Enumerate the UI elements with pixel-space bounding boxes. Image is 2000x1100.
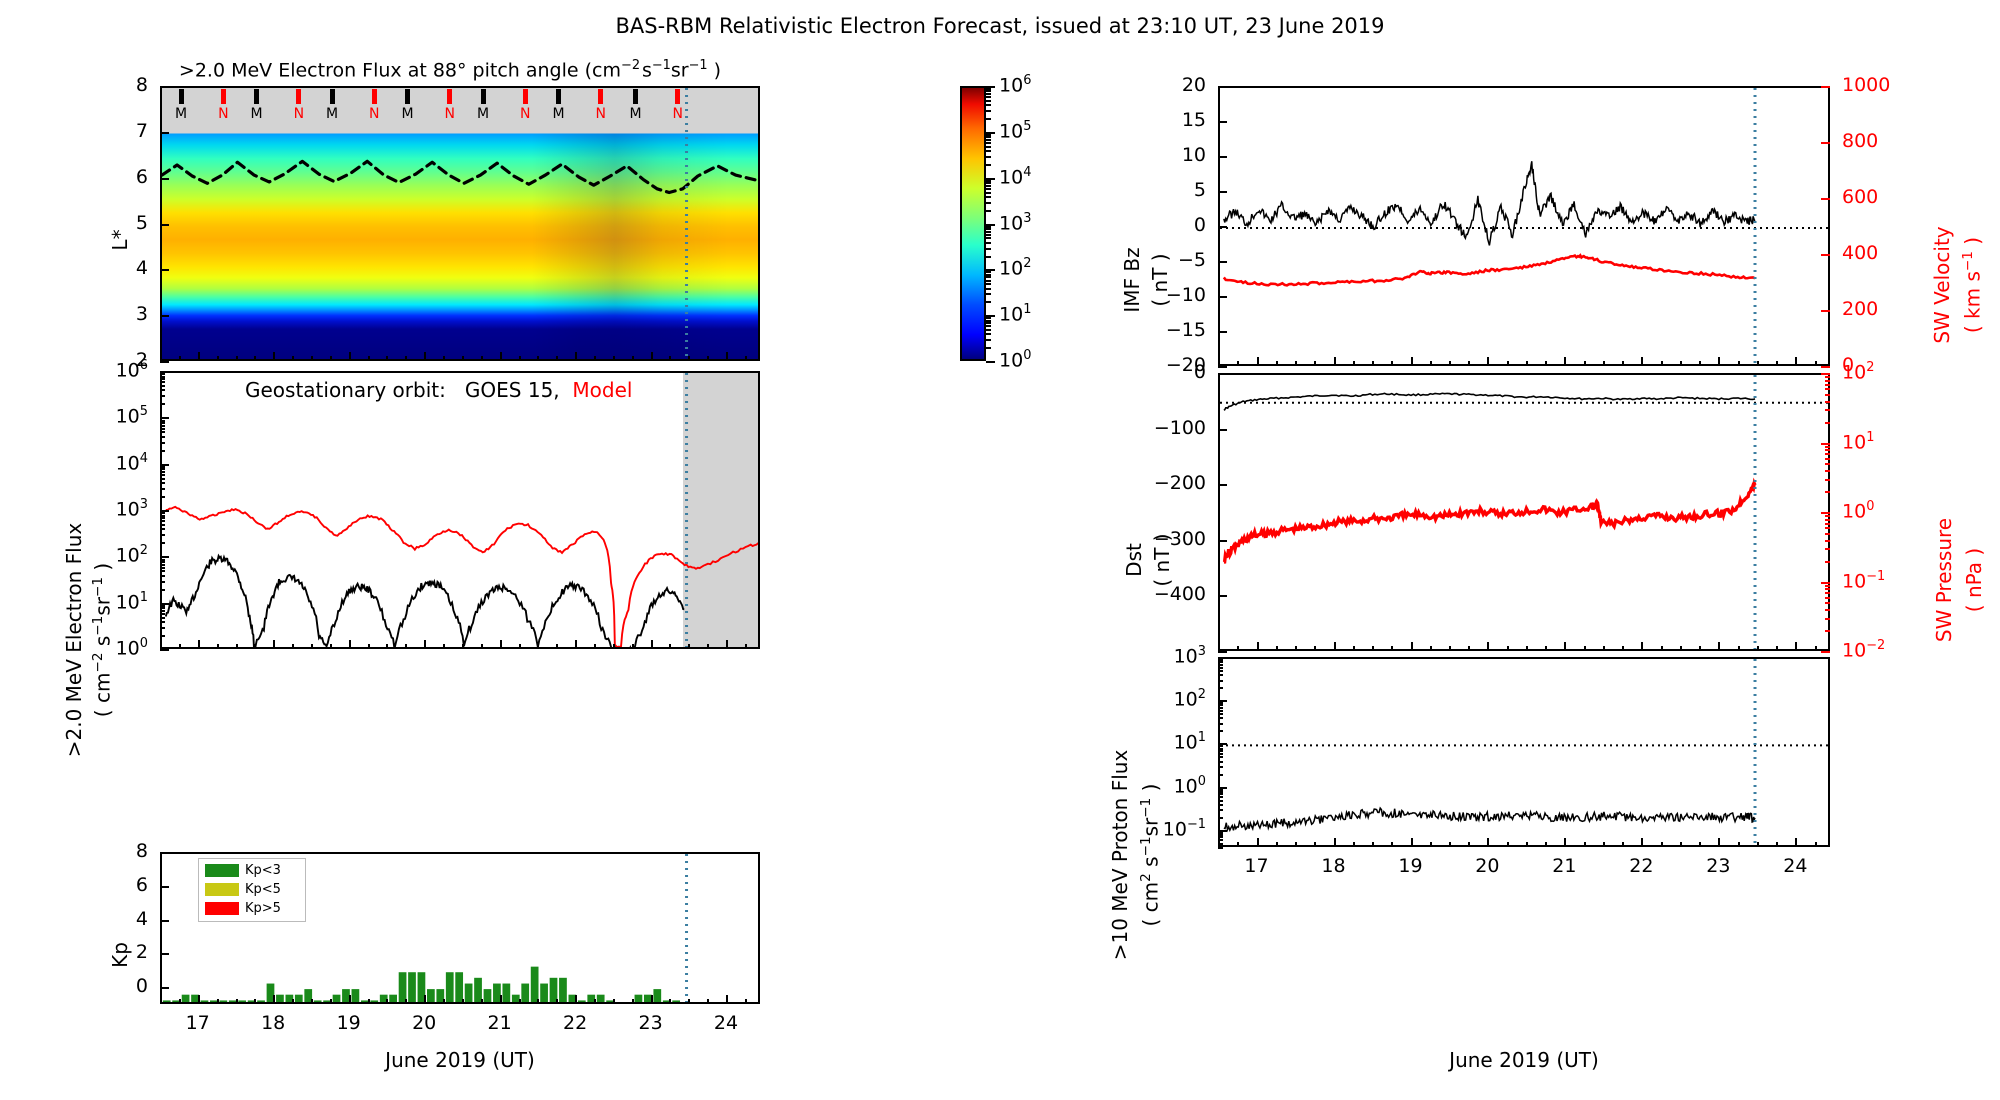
unit-sr-exponent: −1: [689, 58, 708, 73]
y-tick-minor: [160, 512, 165, 514]
kp-legend: Kp<3Kp<5Kp>5: [198, 858, 306, 922]
colorbar-tick-minor: [986, 196, 991, 198]
x-tick-minor: [1757, 842, 1759, 847]
kp-legend-label-0: Kp<3: [245, 863, 281, 878]
y-tick-label: −400: [1154, 583, 1206, 605]
satellite-tick-n: [447, 89, 452, 104]
y-tick-label: 101: [116, 590, 148, 613]
x-tick-minor: [386, 644, 388, 649]
colorbar-tick-minor: [986, 136, 991, 138]
colorbar-tick-minor: [986, 271, 991, 273]
y-tick-minor: [1218, 702, 1223, 704]
x-tick-minor: [254, 356, 256, 361]
colorbar-tick-minor: [986, 142, 991, 144]
y-tick: [1218, 86, 1227, 88]
y-tick-minor: [1218, 750, 1223, 752]
colorbar-tick-minor: [986, 280, 991, 282]
x-tick-major: [273, 995, 275, 1004]
y-tick-minor: [160, 436, 165, 438]
y-tick-minor: [1825, 376, 1830, 378]
y-tick-minor: [1218, 804, 1223, 806]
imf-curves: [1220, 88, 1830, 366]
y-tick: [160, 920, 169, 922]
y-tick-minor: [1825, 394, 1830, 396]
y-tick-label: 0: [1194, 361, 1206, 383]
y-tick-minor: [160, 515, 165, 517]
x-tick-minor: [1815, 842, 1817, 847]
y-tick-minor: [160, 478, 165, 480]
x-tick-major: [424, 995, 426, 1004]
y-tick: [1218, 121, 1227, 123]
x-tick-minor: [1699, 646, 1701, 651]
x-tick-major: [726, 640, 728, 649]
x-tick-minor: [443, 999, 445, 1004]
satellite-label-m: M: [629, 106, 641, 122]
x-tick-minor: [1584, 361, 1586, 366]
x-tick-minor: [1603, 361, 1605, 366]
y-tick: [160, 361, 169, 363]
y-tick-label: 400: [1842, 242, 1878, 264]
x-tick-minor: [1738, 842, 1740, 847]
x-tick-minor: [669, 356, 671, 361]
y-tick: [1218, 366, 1227, 368]
x-tick-minor: [1276, 842, 1278, 847]
y-tick: [1821, 443, 1830, 445]
x-tick-minor: [1661, 361, 1663, 366]
x-tick-major: [198, 352, 200, 361]
y-tick-minor: [160, 575, 165, 577]
y-tick-minor: [160, 468, 165, 470]
colorbar-tick-minor: [986, 146, 991, 148]
x-tick-major: [651, 352, 653, 361]
y-tick-minor: [1218, 753, 1223, 755]
y-tick-minor: [1825, 588, 1830, 590]
y-tick-minor: [160, 389, 165, 391]
x-tick-minor: [405, 999, 407, 1004]
geo-legend-observed: GOES 15,: [465, 378, 560, 402]
dst-curves: [1220, 375, 1830, 651]
y-tick-label: −5: [1178, 249, 1206, 271]
y-tick-label: 8: [136, 840, 148, 862]
colorbar-tick-minor: [986, 96, 991, 98]
y-tick-minor: [1825, 515, 1830, 517]
x-tick-minor: [1449, 361, 1451, 366]
x-tick-major: [349, 640, 351, 649]
y-tick-minor: [1825, 453, 1830, 455]
colorbar-tick-minor: [986, 320, 991, 322]
x-tick-major: [651, 995, 653, 1004]
unit-s: s: [642, 59, 652, 81]
satellite-label-n: N: [596, 106, 606, 122]
y-tick: [160, 178, 169, 180]
y-tick: [1218, 484, 1227, 486]
x-tick-major: [651, 640, 653, 649]
y-tick-minor: [1825, 491, 1830, 493]
y-tick-label: 4: [136, 908, 148, 930]
colorbar-tick-minor: [986, 202, 991, 204]
y-tick-label: 102: [1842, 360, 1874, 383]
y-tick-minor: [1825, 401, 1830, 403]
x-tick-minor: [1815, 361, 1817, 366]
proton-flux-axes[interactable]: [1218, 657, 1830, 847]
x-tick-minor: [537, 999, 539, 1004]
x-tick-label: 18: [1321, 855, 1345, 877]
x-tick-label: 17: [1244, 855, 1268, 877]
x-tick-major: [575, 995, 577, 1004]
x-tick-minor: [669, 999, 671, 1004]
x-tick-minor: [1314, 361, 1316, 366]
y-tick-minor: [160, 517, 165, 519]
x-tick-minor: [1757, 361, 1759, 366]
x-tick-minor: [594, 999, 596, 1004]
flux-colorbar[interactable]: [960, 86, 986, 361]
y-tick-label: 0: [1194, 214, 1206, 236]
x-tick-minor: [1545, 361, 1547, 366]
colorbar-tick-label: 104: [999, 165, 1031, 188]
y-tick-minor: [1825, 527, 1830, 529]
x-tick-minor: [1430, 361, 1432, 366]
y-tick: [1218, 373, 1227, 375]
y-tick-label: 200: [1842, 298, 1878, 320]
x-tick-minor: [688, 356, 690, 361]
x-tick-minor: [1738, 361, 1740, 366]
y-tick-minor: [1218, 659, 1223, 661]
x-tick-minor: [1526, 361, 1528, 366]
colorbar-tick-minor: [986, 329, 991, 331]
y-tick-label: 0: [136, 975, 148, 997]
x-tick-major: [349, 995, 351, 1004]
x-tick-major: [500, 995, 502, 1004]
x-tick-minor: [1468, 646, 1470, 651]
y-tick-minor: [160, 425, 165, 427]
y-tick-label: 6: [136, 874, 148, 896]
y-tick-label: 101: [1842, 430, 1874, 453]
x-tick-major: [1411, 642, 1413, 651]
colorbar-tick-minor: [986, 325, 991, 327]
y-tick-label: 10−1: [1842, 569, 1885, 592]
x-tick-major: [1334, 838, 1336, 847]
x-tick-minor: [236, 999, 238, 1004]
y-tick-minor: [1825, 463, 1830, 465]
y-tick-minor: [160, 420, 165, 422]
colorbar-tick-minor: [986, 185, 991, 187]
y-tick-minor: [160, 431, 165, 433]
colorbar-tick-minor: [986, 139, 991, 141]
y-tick-label: 102: [1174, 687, 1206, 710]
x-tick-major: [198, 995, 200, 1004]
y-tick-label: 100: [1174, 774, 1206, 797]
colorbar-tick-label: 106: [999, 73, 1031, 96]
colorbar-tick-minor: [986, 339, 991, 341]
x-tick-minor: [462, 999, 464, 1004]
y-tick: [1218, 296, 1227, 298]
colorbar-tick-minor: [986, 156, 991, 158]
x-tick-major: [1718, 838, 1720, 847]
y-tick-minor: [160, 395, 165, 397]
x-tick-minor: [707, 356, 709, 361]
ylabel-proton-line2: ( cm2 s−1sr−1 ): [1138, 784, 1163, 927]
x-tick-minor: [613, 356, 615, 361]
x-tick-label: 19: [1398, 855, 1422, 877]
colorbar-tick-minor: [986, 288, 991, 290]
y-tick-minor: [160, 450, 165, 452]
y-tick-minor: [1218, 832, 1223, 834]
x-tick-minor: [1680, 361, 1682, 366]
y-tick: [1218, 595, 1227, 597]
y-tick-minor: [160, 471, 165, 473]
y-tick: [160, 269, 169, 271]
y-tick-minor: [160, 542, 165, 544]
x-tick-minor: [745, 644, 747, 649]
x-tick-minor: [1738, 646, 1740, 651]
x-tick-minor: [254, 644, 256, 649]
x-tick-minor: [556, 999, 558, 1004]
y-tick-minor: [1218, 791, 1223, 793]
x-tick-minor: [330, 999, 332, 1004]
y-tick-label: 2: [136, 941, 148, 963]
figure-title: BAS-RBM Relativistic Electron Forecast, …: [615, 14, 1384, 38]
x-tick-major: [726, 352, 728, 361]
x-tick-minor: [1699, 842, 1701, 847]
x-tick-minor: [1372, 361, 1374, 366]
ylabel-sw-velocity-line2: ( km s−1 ): [1960, 237, 1985, 333]
y-tick-minor: [1218, 796, 1223, 798]
y-tick-minor: [1825, 388, 1830, 390]
y-tick-minor: [160, 605, 165, 607]
x-tick-minor: [217, 999, 219, 1004]
x-tick-minor: [1776, 646, 1778, 651]
y-tick-minor: [160, 488, 165, 490]
satellite-label-n: N: [520, 106, 530, 122]
y-tick: [160, 987, 169, 989]
y-tick-minor: [160, 422, 165, 424]
x-tick-minor: [688, 644, 690, 649]
y-tick-label: 10−2: [1842, 638, 1885, 661]
satellite-tick-n: [296, 89, 301, 104]
y-tick: [1218, 191, 1227, 193]
colorbar-tick-minor: [986, 228, 991, 230]
x-tick-minor: [1776, 361, 1778, 366]
satellite-tick-m: [633, 89, 638, 104]
x-tick-minor: [1314, 842, 1316, 847]
x-tick-minor: [311, 644, 313, 649]
x-tick-major: [424, 352, 426, 361]
y-tick-label: 10: [1182, 144, 1206, 166]
colorbar-tick-minor: [986, 293, 991, 295]
x-tick-minor: [745, 999, 747, 1004]
y-tick: [1218, 429, 1227, 431]
y-tick-minor: [1218, 774, 1223, 776]
y-tick-label: 105: [116, 404, 148, 427]
colorbar-tick-minor: [986, 317, 991, 319]
x-tick-major: [1564, 838, 1566, 847]
kp-legend-swatch-1: [205, 883, 239, 896]
y-tick-minor: [1218, 713, 1223, 715]
x-tick-minor: [519, 999, 521, 1004]
geo-legend-prefix: Geostationary orbit:: [245, 378, 446, 402]
x-tick-minor: [481, 999, 483, 1004]
x-tick-major: [1257, 838, 1259, 847]
ylabel-imf-bz-line2: ( nT ): [1148, 253, 1172, 306]
y-tick-minor: [1218, 809, 1223, 811]
y-tick-minor: [1218, 800, 1223, 802]
satellite-tick-n: [598, 89, 603, 104]
x-tick-minor: [519, 356, 521, 361]
colorbar-tick-minor: [986, 182, 991, 184]
x-tick-major: [1257, 357, 1259, 366]
x-tick-minor: [1430, 842, 1432, 847]
x-tick-major: [1718, 642, 1720, 651]
x-tick-minor: [613, 644, 615, 649]
x-tick-minor: [1603, 842, 1605, 847]
x-tick-minor: [386, 356, 388, 361]
x-tick-label: 18: [261, 1012, 285, 1034]
x-tick-label: 24: [1783, 855, 1807, 877]
ylabel-dst-line1: Dst: [1122, 543, 1146, 577]
y-tick-minor: [160, 381, 165, 383]
y-tick-minor: [1218, 707, 1223, 709]
kp-legend-swatch-2: [205, 902, 239, 915]
colorbar-tick-minor: [986, 134, 991, 136]
y-tick: [160, 649, 169, 651]
x-tick-minor: [632, 644, 634, 649]
colorbar-tick-minor: [986, 90, 991, 92]
x-tick-minor: [1545, 842, 1547, 847]
satellite-label-m: M: [175, 106, 187, 122]
x-tick-major: [1257, 642, 1259, 651]
y-tick-minor: [1825, 561, 1830, 563]
y-tick-minor: [160, 520, 165, 522]
y-tick-label: 5: [136, 212, 148, 234]
colorbar-tick-minor: [986, 256, 991, 258]
y-tick-label: 3: [136, 303, 148, 325]
x-tick-minor: [1507, 361, 1509, 366]
x-tick-minor: [1372, 842, 1374, 847]
x-tick-minor: [217, 356, 219, 361]
satellite-label-m: M: [477, 106, 489, 122]
x-tick-minor: [179, 999, 181, 1004]
x-tick-minor: [1276, 646, 1278, 651]
y-tick-minor: [1825, 548, 1830, 550]
colorbar-tick-minor: [986, 231, 991, 233]
flux-map-axes[interactable]: Forecast: [160, 86, 760, 361]
x-tick-minor: [632, 999, 634, 1004]
y-tick-minor: [160, 567, 165, 569]
y-tick-minor: [160, 428, 165, 430]
colorbar-tick-label: 101: [999, 302, 1031, 325]
satellite-tick-n: [523, 89, 528, 104]
colorbar-tick: [986, 361, 995, 363]
x-tick-minor: [481, 356, 483, 361]
y-tick-minor: [160, 534, 165, 536]
y-tick-minor: [1218, 680, 1223, 682]
colorbar-tick-minor: [986, 88, 991, 90]
satellite-tick-m: [405, 89, 410, 104]
colorbar-tick-minor: [986, 322, 991, 324]
x-tick-minor: [613, 999, 615, 1004]
x-tick-minor: [1237, 842, 1239, 847]
x-tick-minor: [1545, 646, 1547, 651]
y-tick-minor: [1825, 449, 1830, 451]
y-tick-minor: [1825, 597, 1830, 599]
y-tick-minor: [160, 564, 165, 566]
y-tick-label: 1000: [1842, 74, 1890, 96]
colorbar-tick-minor: [986, 301, 991, 303]
colorbar-tick-minor: [986, 248, 991, 250]
x-tick-major: [1411, 357, 1413, 366]
x-tick-minor: [1526, 842, 1528, 847]
x-tick-minor: [1584, 646, 1586, 651]
satellite-tick-m: [481, 89, 486, 104]
y-tick-minor: [1825, 519, 1830, 521]
y-tick: [160, 886, 169, 888]
x-tick-minor: [669, 644, 671, 649]
x-tick-minor: [1353, 842, 1355, 847]
y-tick-minor: [160, 466, 165, 468]
x-tick-minor: [1353, 646, 1355, 651]
kp-legend-label-1: Kp<5: [245, 882, 281, 897]
x-tick-minor: [1295, 842, 1297, 847]
x-tick-major: [1795, 838, 1797, 847]
x-tick-major: [726, 995, 728, 1004]
y-tick-label: 15: [1182, 109, 1206, 131]
x-tick-minor: [443, 356, 445, 361]
x-tick-label: 20: [1475, 855, 1499, 877]
y-tick-minor: [1218, 761, 1223, 763]
dst-axes[interactable]: [1218, 373, 1830, 651]
x-tick-major: [1795, 357, 1797, 366]
x-tick-major: [500, 640, 502, 649]
y-tick-minor: [160, 559, 165, 561]
y-tick-minor: [1218, 670, 1223, 672]
y-tick-minor: [160, 528, 165, 530]
x-tick-major: [1334, 357, 1336, 366]
geo-legend: Geostationary orbit: GOES 15, Model: [245, 378, 632, 402]
y-tick: [1218, 540, 1227, 542]
colorbar-tick-label: 102: [999, 256, 1031, 279]
y-tick-minor: [1218, 661, 1223, 663]
y-tick-minor: [1825, 446, 1830, 448]
geostationary-flux-axes[interactable]: Forecast: [160, 371, 760, 649]
x-tick-minor: [1815, 646, 1817, 651]
y-tick-minor: [160, 373, 165, 375]
y-tick: [1218, 261, 1227, 263]
x-tick-minor: [707, 644, 709, 649]
y-tick-minor: [1218, 834, 1223, 836]
y-tick-label: 600: [1842, 186, 1878, 208]
y-tick-minor: [1218, 674, 1223, 676]
y-tick: [1821, 198, 1830, 200]
x-tick-major: [500, 352, 502, 361]
x-tick-minor: [330, 644, 332, 649]
unit-cm: cm: [592, 59, 621, 81]
ylabel-sw-pressure-line2: ( nPa ): [1962, 548, 1986, 612]
y-tick: [1821, 310, 1830, 312]
xaxis-label-left: June 2019 (UT): [385, 1048, 535, 1072]
satellite-label-m: M: [552, 106, 564, 122]
satellite-label-m: M: [251, 106, 263, 122]
x-tick-minor: [1391, 646, 1393, 651]
y-tick-minor: [1825, 384, 1830, 386]
x-tick-minor: [481, 644, 483, 649]
x-tick-minor: [236, 644, 238, 649]
imf-axes[interactable]: [1218, 86, 1830, 366]
x-tick-label: 22: [563, 1012, 587, 1034]
y-tick: [1218, 331, 1227, 333]
x-tick-minor: [1507, 842, 1509, 847]
y-tick-minor: [160, 376, 165, 378]
colorbar-tick-label: 103: [999, 211, 1031, 234]
